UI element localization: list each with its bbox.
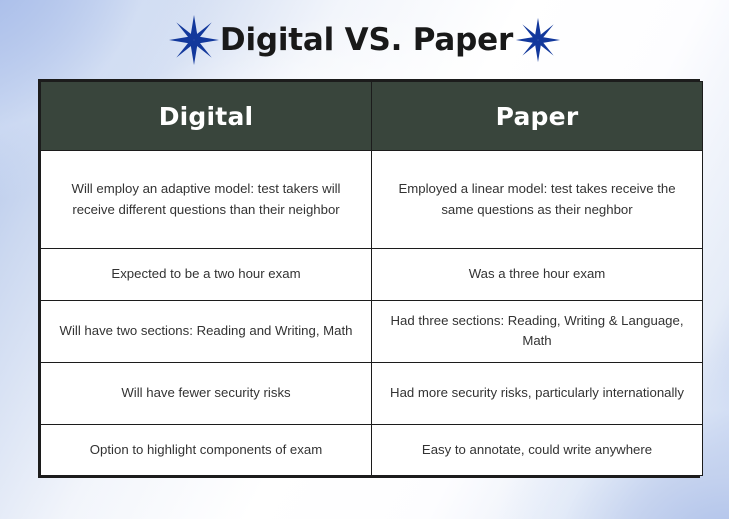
slide-title-row: Digital VS. Paper [0,12,729,68]
cell-digital: Expected to be a two hour exam [41,249,372,300]
cell-paper: Easy to annotate, could write anywhere [372,424,703,475]
cell-paper: Employed a linear model: test takes rece… [372,151,703,249]
table-row: Will have fewer security risks Had more … [41,362,703,424]
cell-digital: Will have fewer security risks [41,362,372,424]
sparkle-star-icon-right [515,17,561,63]
page-title: Digital VS. Paper [220,22,513,58]
comparison-table: Digital Paper Will employ an adaptive mo… [38,79,700,478]
cell-paper: Had more security risks, particularly in… [372,362,703,424]
column-header-paper: Paper [372,82,703,151]
sparkle-star-icon-left [168,14,220,66]
table-row: Option to highlight components of exam E… [41,424,703,475]
table-row: Expected to be a two hour exam Was a thr… [41,249,703,300]
cell-paper: Had three sections: Reading, Writing & L… [372,300,703,362]
cell-digital: Option to highlight components of exam [41,424,372,475]
table-row: Will have two sections: Reading and Writ… [41,300,703,362]
cell-digital: Will employ an adaptive model: test take… [41,151,372,249]
table-row: Will employ an adaptive model: test take… [41,151,703,249]
table-header-row: Digital Paper [41,82,703,151]
cell-digital: Will have two sections: Reading and Writ… [41,300,372,362]
cell-paper: Was a three hour exam [372,249,703,300]
column-header-digital: Digital [41,82,372,151]
